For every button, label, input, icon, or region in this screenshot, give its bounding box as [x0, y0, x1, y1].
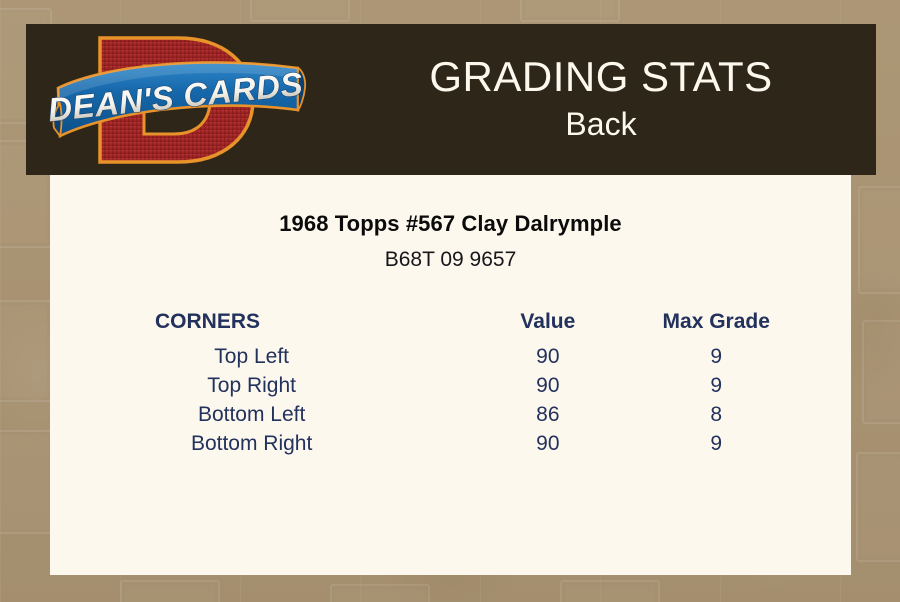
deans-cards-logo[interactable]: DEAN'S CARDS: [48, 26, 308, 174]
row-max-grade: 9: [635, 430, 797, 459]
logo-graphic: DEAN'S CARDS: [48, 26, 308, 174]
table-body: Top Left909Top Right909Bottom Left868Bot…: [103, 343, 797, 459]
background-card-thumb: [0, 300, 52, 402]
row-value: 86: [460, 401, 635, 430]
row-value: 90: [460, 430, 635, 459]
column-header-max-grade: Max Grade: [635, 310, 797, 343]
page-subtitle: Back: [565, 104, 636, 144]
background-card-thumb: [862, 320, 900, 424]
background-card-thumb: [856, 452, 900, 562]
row-label: Top Right: [103, 372, 460, 401]
row-max-grade: 8: [635, 401, 797, 430]
table-header-row: CORNERS Value Max Grade: [103, 310, 797, 343]
background-card-thumb: [560, 580, 660, 602]
background-card-thumb: [330, 584, 430, 602]
background-card-thumb: [858, 186, 900, 294]
card-serial-number: B68T 09 9657: [50, 237, 851, 272]
background-card-thumb: [250, 0, 350, 22]
row-value: 90: [460, 372, 635, 401]
background-card-thumb: [520, 0, 620, 22]
header-title-group: GRADING STATS Back: [326, 24, 876, 175]
row-label: Top Left: [103, 343, 460, 372]
table-row: Bottom Left868: [103, 401, 797, 430]
row-value: 90: [460, 343, 635, 372]
row-max-grade: 9: [635, 343, 797, 372]
row-max-grade: 9: [635, 372, 797, 401]
page-title: GRADING STATS: [429, 55, 772, 99]
table-row: Top Right909: [103, 372, 797, 401]
card-title: 1968 Topps #567 Clay Dalrymple: [50, 175, 851, 237]
row-label: Bottom Right: [103, 430, 460, 459]
grading-stats-table: CORNERS Value Max Grade Top Left909Top R…: [103, 310, 797, 459]
table-row: Bottom Right909: [103, 430, 797, 459]
table-row: Top Left909: [103, 343, 797, 372]
background-card-thumb: [120, 580, 220, 602]
header-bar: DEAN'S CARDS GRADING STATS Back: [26, 24, 876, 175]
column-header-value: Value: [460, 310, 635, 343]
table-head: CORNERS Value Max Grade: [103, 310, 797, 343]
column-header-section: CORNERS: [103, 310, 460, 343]
row-label: Bottom Left: [103, 401, 460, 430]
content-panel: 1968 Topps #567 Clay Dalrymple B68T 09 9…: [50, 175, 851, 575]
page-root: DEAN'S CARDS GRADING STATS Back 1968 Top…: [0, 0, 900, 602]
background-card-thumb: [0, 430, 54, 534]
